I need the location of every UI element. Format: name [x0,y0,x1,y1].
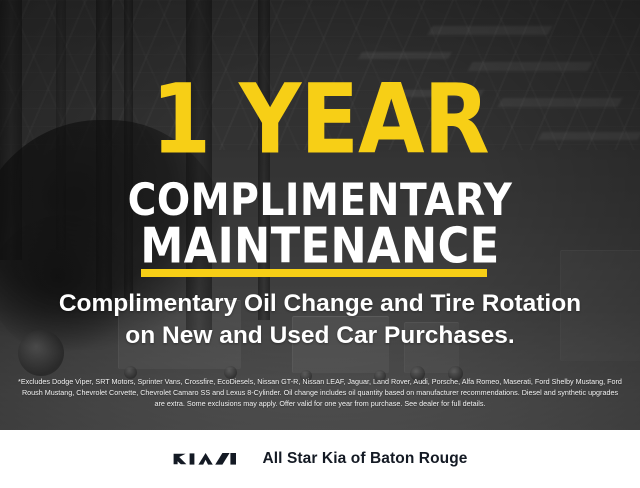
subheadline-line-1: Complimentary Oil Change and Tire Rotati… [0,292,640,317]
headline-line-2-complimentary: COMPLIMENTARY [6,178,633,223]
footer-bar: All Star Kia of Baton Rouge [0,430,640,488]
banner-content: 1 YEAR COMPLIMENTARY MAINTENANCE Complim… [0,0,640,430]
subheadline-line-2: on New and Used Car Purchases. [0,324,640,349]
disclaimer-fine-print: *Excludes Dodge Viper, SRT Motors, Sprin… [16,376,624,409]
promo-banner: 1 YEAR COMPLIMENTARY MAINTENANCE Complim… [0,0,640,488]
kia-logo-icon [172,449,244,469]
headline-line-1-year: 1 YEAR [0,72,640,168]
yellow-divider-rule [141,269,487,277]
dealer-name-label: All Star Kia of Baton Rouge [262,450,467,468]
headline-line-3-maintenance: MAINTENANCE [6,222,633,271]
